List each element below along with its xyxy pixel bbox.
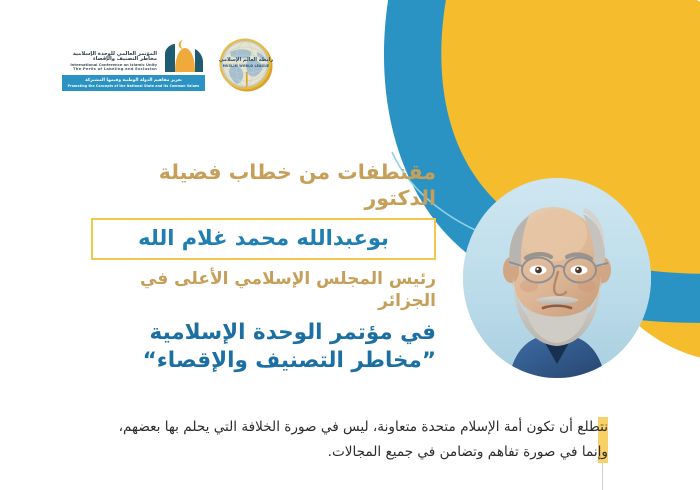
event-line-2: ”مخاطر التصنيف والإقصاء“: [91, 347, 436, 375]
speaker-portrait: [463, 178, 651, 378]
header-logo-bar: المؤتمر العالمي للوحدة الإسلامية مخاطر ا…: [62, 38, 275, 94]
speaker-name-box: بوعبدالله محمد غلام الله: [91, 218, 436, 260]
conference-tagline-banner: تعزيز مفاهيم الدولة الوطنية وقيمها المشت…: [62, 75, 205, 91]
poster-canvas: المؤتمر العالمي للوحدة الإسلامية مخاطر ا…: [0, 0, 700, 490]
conference-logo: المؤتمر العالمي للوحدة الإسلامية مخاطر ا…: [62, 38, 205, 91]
portrait-illustration: [463, 178, 651, 378]
quote-accent-rule: [602, 463, 603, 490]
conference-logo-text: المؤتمر العالمي للوحدة الإسلامية مخاطر ا…: [62, 52, 157, 72]
mosque-dome-icon: [161, 40, 205, 72]
portrait-circle-frame: [463, 178, 651, 378]
main-text-block: مقتطفات من خطاب فضيلة الدكتور بوعبدالله …: [91, 160, 436, 375]
kicker-text: مقتطفات من خطاب فضيلة الدكتور: [91, 160, 436, 211]
conference-tagline-english: Promoting the Concepts of the National S…: [66, 84, 201, 88]
muslim-world-league-logo: رابطة العالم الإسلامي MUSLIM WORLD LEAGU…: [217, 36, 275, 94]
conference-arabic-line2: مخاطر التصنيف والإقصاء: [93, 57, 157, 62]
quote-text: نتطلع أن تكون أمة الإسلام متحدة متعاونة،…: [98, 415, 608, 465]
mwl-english-label: MUSLIM WORLD LEAGUE: [217, 64, 275, 68]
conference-english-line2: The Perils of Labeling and Exclusion: [73, 68, 157, 72]
conference-tagline-arabic: تعزيز مفاهيم الدولة الوطنية وقيمها المشت…: [66, 78, 201, 83]
quote-block: نتطلع أن تكون أمة الإسلام متحدة متعاونة،…: [98, 415, 608, 465]
speaker-name: بوعبدالله محمد غلام الله: [103, 227, 424, 250]
speaker-title: رئيس المجلس الإسلامي الأعلى في الجزائر: [91, 268, 436, 312]
mwl-arabic-label: رابطة العالم الإسلامي: [217, 57, 275, 63]
conference-logo-top: المؤتمر العالمي للوحدة الإسلامية مخاطر ا…: [62, 38, 205, 72]
event-line-1: في مؤتمر الوحدة الإسلامية: [91, 319, 436, 347]
